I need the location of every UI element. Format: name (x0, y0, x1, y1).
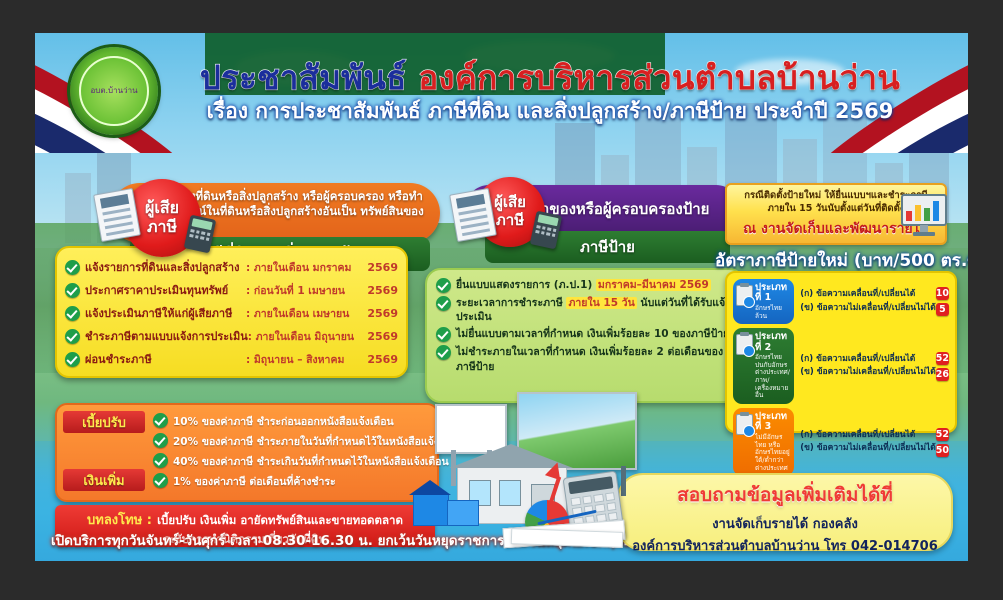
check-icon (436, 296, 451, 311)
rate-desc-b: (ข) ข้อความไม่เคลื่อนที่/เปลี่ยนไม่ได้ (800, 442, 936, 455)
penalty-extra-tag: เงินเพิ่ม (63, 469, 145, 491)
schedule-year: 2569 (364, 307, 398, 320)
list-item: 40% ของค่าภาษี ชำระเกินวันที่กำหนดไว้ในห… (153, 453, 449, 470)
schedule-when: : ภายในเดือน มิถุนายน (248, 328, 365, 345)
check-icon (153, 413, 168, 428)
schedule-when: : ภายในเดือน เมษายน (246, 305, 364, 322)
check-icon (65, 329, 80, 344)
monitor-chart-icon (900, 193, 948, 237)
check-icon (153, 473, 168, 488)
rate-type-sub: อักษรไทยปนกับอักษรต่างประเทศ/ภาพ/เครื่อง… (755, 354, 790, 400)
table-row: ประเภทที่ 2 อักษรไทยปนกับอักษรต่างประเทศ… (733, 328, 949, 404)
rate-type-title: ประเภทที่ 3 (755, 412, 790, 433)
rate-type-title: ประเภทที่ 1 (755, 283, 790, 304)
poster-root: อบต.บ้านว่าน ประชาสัมพันธ์ องค์การบริหาร… (35, 33, 968, 561)
check-icon (153, 433, 168, 448)
schedule-when: : ก่อนวันที่ 1 เมษายน (246, 282, 364, 299)
penalty-text: 1% ของค่าภาษี ต่อเดือนที่ค้างชำระ (173, 473, 336, 490)
sign-rule-text: ยื่นแบบแสดงรายการ (ภ.ป.1) มกราคม–มีนาคม … (456, 278, 711, 293)
rate-value-cell: 52 26 (936, 352, 949, 381)
table-row: ผ่อนชำระภาษี : มิถุนายน – สิงหาคม 2569 (65, 350, 398, 368)
rate-type-cell: ประเภทที่ 2 อักษรไทยปนกับอักษรต่างประเทศ… (733, 328, 794, 404)
sign-rule-text: ระยะเวลาการชำระภาษี ภายใน 15 วัน นับแต่ว… (456, 296, 734, 324)
sign-rules-card: ยื่นแบบแสดงรายการ (ภ.ป.1) มกราคม–มีนาคม … (425, 268, 745, 403)
rate-type-cell: ประเภทที่ 1 อักษรไทยล้วน (733, 279, 794, 324)
rate-desc-a: (ก) ข้อความเคลื่อนที่/เปลี่ยนได้ (800, 429, 936, 442)
land-badge-line2: ภาษี (147, 218, 177, 237)
rate-value-a: 52 (936, 428, 949, 441)
rate-value-cell: 52 50 (936, 428, 949, 457)
list-item: ไม่ยื่นแบบตามเวลาที่กำหนด เงินเพิ่มร้อยล… (436, 327, 734, 342)
clipboard-check-icon (736, 414, 753, 435)
schedule-task: ชำระภาษีตามแบบแจ้งการประเมิน (85, 327, 248, 345)
table-row: ประกาศราคาประเมินทุนทรัพย์ : ก่อนวันที่ … (65, 281, 398, 299)
document-icon (449, 188, 497, 242)
contact-heading: สอบถามข้อมูลเพิ่มเติมได้ที่ (619, 480, 951, 510)
sign-rule-text: ไม่ชำระภายในเวลาที่กำหนด เงินเพิ่มร้อยละ… (456, 345, 734, 373)
sign-badge-line2: ภาษี (496, 212, 524, 230)
list-item: ยื่นแบบแสดงรายการ (ภ.ป.1) มกราคม–มีนาคม … (436, 278, 734, 293)
list-item: 10% ของค่าภาษี ชำระก่อนออกหนังสือแจ้งเตื… (153, 413, 394, 430)
contact-office: งานจัดเก็บรายได้ กองคลัง (619, 513, 951, 534)
rate-type-title: ประเภทที่ 2 (755, 332, 790, 353)
clipboard-check-icon (736, 285, 753, 306)
list-item: 1% ของค่าภาษี ต่อเดือนที่ค้างชำระ (153, 473, 336, 490)
sign-rate-table: ประเภทที่ 1 อักษรไทยล้วน (ก) ข้อความเคลื… (725, 271, 957, 433)
check-icon (436, 345, 451, 360)
schedule-when: : ภายในเดือน มกราคม (246, 259, 364, 276)
schedule-task: ผ่อนชำระภาษี (85, 350, 246, 368)
rate-type-sub: อักษรไทยล้วน (755, 305, 790, 320)
list-item: ระยะเวลาการชำระภาษี ภายใน 15 วัน นับแต่ว… (436, 296, 734, 324)
table-row: แจ้งประเมินภาษีให้แก่ผู้เสียภาษี : ภายใน… (65, 304, 398, 322)
title-blue-part: ประชาสัมพันธ์ (200, 58, 407, 97)
municipality-logo: อบต.บ้านว่าน (70, 47, 158, 135)
clipboard-check-icon (736, 334, 753, 355)
rate-desc-a: (ก) ข้อความเคลื่อนที่/เปลี่ยนได้ (800, 353, 936, 366)
table-row: แจ้งรายการที่ดินและสิ่งปลูกสร้าง : ภายใน… (65, 258, 398, 276)
logo-inner-seal: อบต.บ้านว่าน (79, 56, 149, 126)
schedule-year: 2569 (364, 353, 398, 366)
rate-value-a: 52 (936, 352, 949, 365)
title-red-part: องค์การบริหารส่วนตำบลบ้านว่าน (418, 58, 900, 97)
land-schedule-card: แจ้งรายการที่ดินและสิ่งปลูกสร้าง : ภายใน… (55, 246, 408, 378)
check-icon (65, 260, 80, 275)
table-row: ประเภทที่ 1 อักษรไทยล้วน (ก) ข้อความเคลื… (733, 279, 949, 324)
check-icon (65, 352, 80, 367)
rate-value-cell: 10 5 (936, 287, 949, 316)
schedule-task: แจ้งประเมินภาษีให้แก่ผู้เสียภาษี (85, 304, 246, 322)
penalty-text: 10% ของค่าภาษี ชำระก่อนออกหนังสือแจ้งเตื… (173, 413, 394, 430)
rate-desc-cell: (ก) ข้อความเคลื่อนที่/เปลี่ยนได้ (ข) ข้อ… (794, 429, 936, 455)
rate-desc-a: (ก) ข้อความเคลื่อนที่/เปลี่ยนได้ (800, 288, 936, 301)
rate-desc-b: (ข) ข้อความไม่เคลื่อนที่/เปลี่ยนไม่ได้ (800, 302, 936, 315)
rate-value-b: 5 (936, 303, 949, 316)
contact-phone: องค์การบริหารส่วนตำบลบ้านว่าน โทร 042-01… (619, 535, 951, 556)
table-row: ประเภทที่ 3 ไม่มีอักษรไทย หรืออักษรไทยอย… (733, 408, 949, 476)
rate-desc-cell: (ก) ข้อความเคลื่อนที่/เปลี่ยนได้ (ข) ข้อ… (794, 288, 936, 314)
check-icon (436, 278, 451, 293)
schedule-year: 2569 (364, 284, 398, 297)
document-icon (93, 188, 141, 242)
schedule-year: 2569 (364, 330, 398, 343)
penalty-card: เบี้ยปรับ เงินเพิ่ม 10% ของค่าภาษี ชำระก… (55, 403, 439, 502)
schedule-year: 2569 (364, 261, 398, 274)
table-row: ชำระภาษีตามแบบแจ้งการประเมิน : ภายในเดือ… (65, 327, 398, 345)
check-icon (436, 327, 451, 342)
schedule-task: แจ้งรายการที่ดินและสิ่งปลูกสร้าง (85, 258, 246, 276)
illustration-buildings-and-signage (407, 388, 662, 548)
rate-desc-cell: (ก) ข้อความเคลื่อนที่/เปลี่ยนได้ (ข) ข้อ… (794, 353, 936, 379)
schedule-when: : มิถุนายน – สิงหาคม (246, 351, 364, 368)
schedule-task: ประกาศราคาประเมินทุนทรัพย์ (85, 281, 246, 299)
check-icon (65, 283, 80, 298)
rate-value-b: 26 (936, 368, 949, 381)
sign-rule-text: ไม่ยื่นแบบตามเวลาที่กำหนด เงินเพิ่มร้อยล… (456, 327, 729, 342)
land-badge-line1: ผู้เสีย (145, 199, 179, 218)
penalty-fine-tag: เบี้ยปรับ (63, 411, 145, 433)
page-subtitle: เรื่อง การประชาสัมพันธ์ ภาษีที่ดิน และสิ… (155, 95, 945, 128)
rate-table-title: อัตราภาษีป้ายใหม่ (บาท/500 ตร.ซม.) (715, 247, 965, 274)
rate-value-b: 50 (936, 444, 949, 457)
rate-value-a: 10 (936, 287, 949, 300)
check-icon (65, 306, 80, 321)
check-icon (153, 453, 168, 468)
contact-card: สอบถามข้อมูลเพิ่มเติมได้ที่ งานจัดเก็บรา… (617, 473, 953, 551)
rate-desc-b: (ข) ข้อความไม่เคลื่อนที่/เปลี่ยนไม่ได้ (800, 366, 936, 379)
sign-badge-line1: ผู้เสีย (494, 194, 526, 212)
header: อบต.บ้านว่าน ประชาสัมพันธ์ องค์การบริหาร… (35, 33, 968, 133)
rate-type-cell: ประเภทที่ 3 ไม่มีอักษรไทย หรืออักษรไทยอย… (733, 408, 794, 476)
rate-type-sub: ไม่มีอักษรไทย หรืออักษรไทยอยู่ใต้/ต่ำกว่… (755, 434, 790, 472)
list-item: ไม่ชำระภายในเวลาที่กำหนด เงินเพิ่มร้อยละ… (436, 345, 734, 373)
